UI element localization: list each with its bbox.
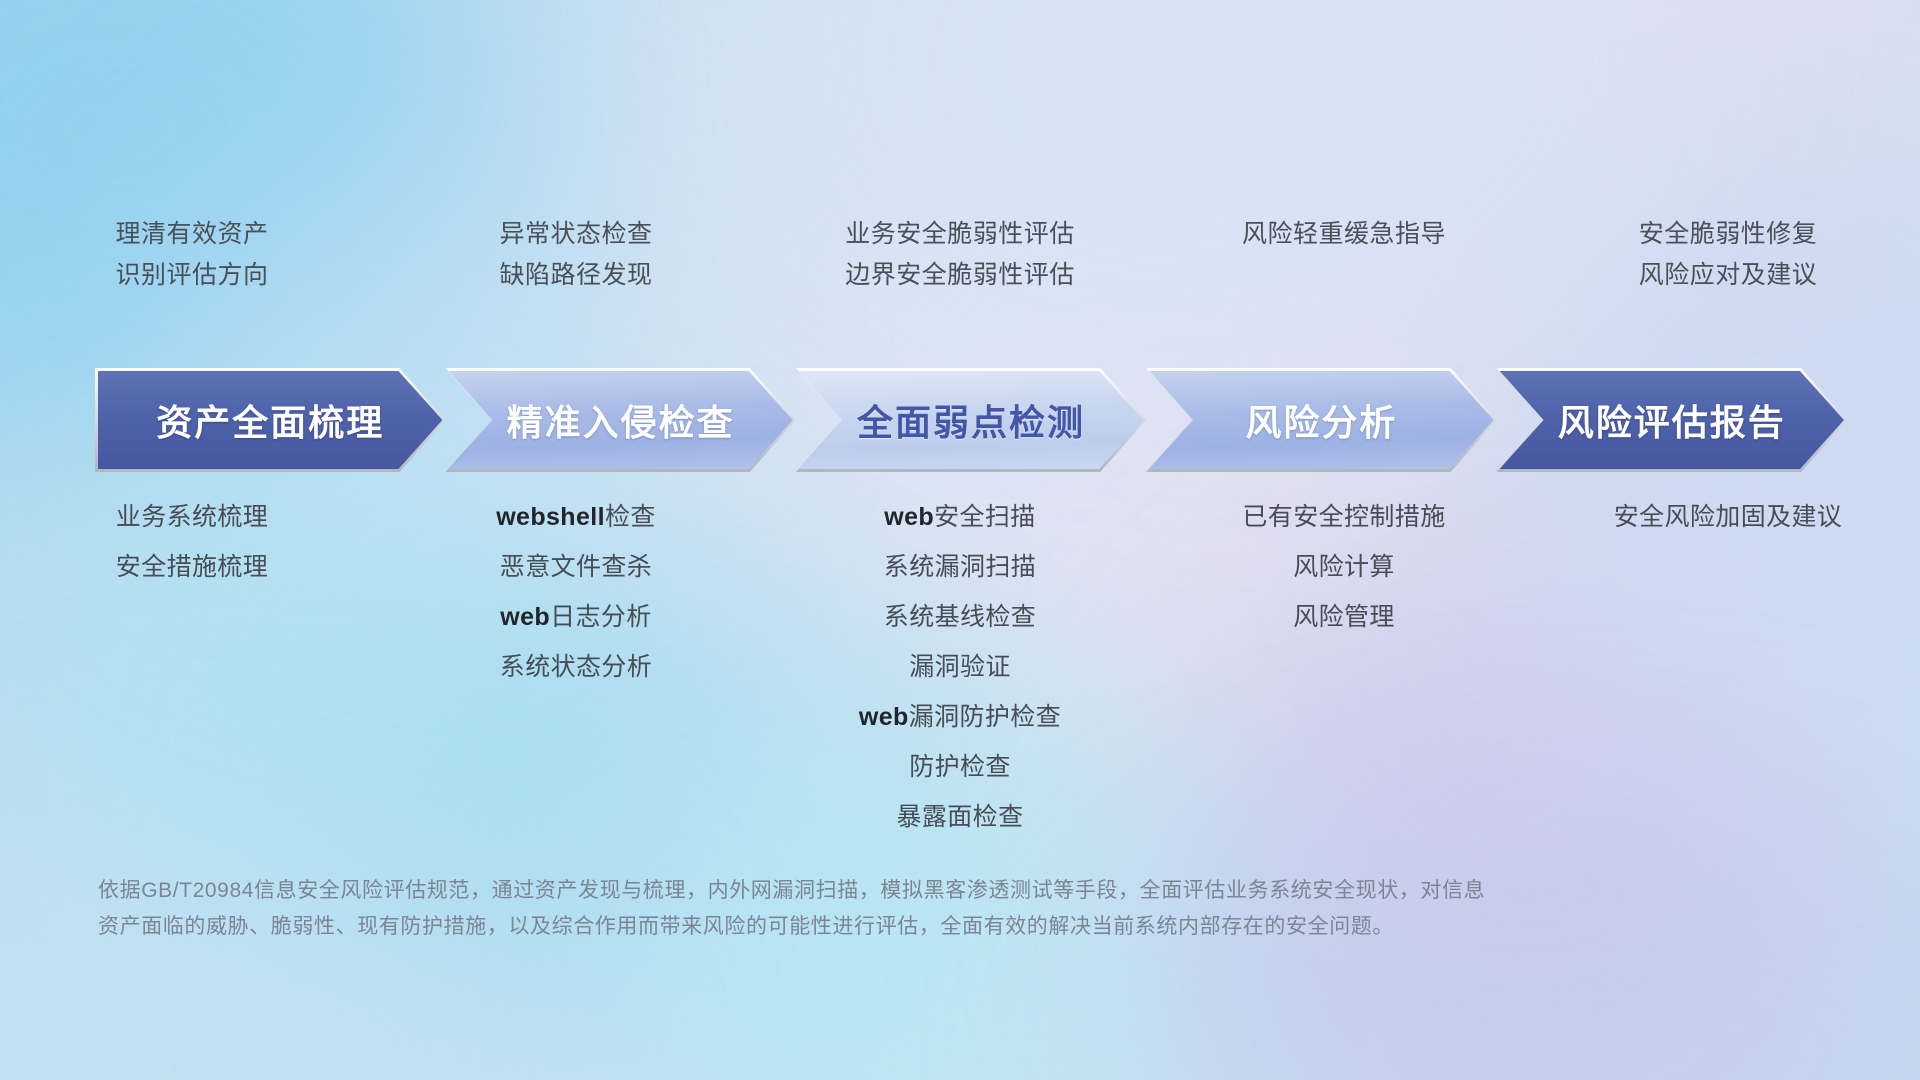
detail-item-text: 系统基线检查	[884, 603, 1036, 631]
process-stage-label: 风险分析	[1245, 394, 1397, 446]
detail-item-text: 防护检查	[909, 753, 1011, 781]
process-stage-asset-inventory[interactable]: 资产全面梳理	[95, 368, 445, 472]
process-stage-intrusion-check[interactable]: 精准入侵检查	[445, 368, 795, 472]
detail-item-text: 检查	[605, 503, 656, 531]
top-description-column: 安全脆弱性修复 风险应对及建议	[1536, 222, 1920, 332]
detail-item: 系统基线检查	[884, 605, 1036, 630]
top-description-line: 理清有效资产	[115, 222, 268, 247]
infographic-stage: 理清有效资产 识别评估方向 异常状态检查 缺陷路径发现 业务安全脆弱性评估 边界…	[0, 0, 1920, 1080]
detail-item: 风险计算	[1293, 555, 1395, 580]
top-description-line: 风险应对及建议	[1639, 263, 1818, 288]
top-description-line: 识别评估方向	[115, 263, 268, 288]
detail-column-risk-analysis: 已有安全控制措施 风险计算 风险管理	[1152, 505, 1536, 630]
detail-column-intrusion-check: webshell检查 恶意文件查杀 web日志分析 系统状态分析	[384, 505, 768, 680]
process-banner: 资产全面梳理 精准入侵检查 全面弱点检测 风险分析 风险评估报告	[95, 368, 1847, 472]
process-stage-risk-analysis[interactable]: 风险分析	[1146, 368, 1496, 472]
top-description-line: 异常状态检查	[499, 222, 652, 247]
detail-item-text: 风险管理	[1293, 603, 1395, 631]
detail-item: web漏洞防护检查	[859, 705, 1061, 730]
detail-item: 系统漏洞扫描	[884, 555, 1036, 580]
process-stage-weakness-detection[interactable]: 全面弱点检测	[796, 368, 1146, 472]
detail-item: 安全措施梳理	[116, 555, 268, 580]
process-stage-label: 精准入侵检查	[507, 394, 735, 446]
detail-item-text: 漏洞防护检查	[909, 703, 1061, 731]
top-description-line: 风险轻重缓急指导	[1242, 222, 1446, 247]
top-description-column: 业务安全脆弱性评估 边界安全脆弱性评估	[768, 222, 1152, 332]
detail-row: 业务系统梳理 安全措施梳理 webshell检查 恶意文件查杀 web日志分析 …	[0, 505, 1920, 830]
detail-item-text: 日志分析	[550, 603, 652, 631]
detail-item: 系统状态分析	[500, 655, 652, 680]
detail-item-text: 系统漏洞扫描	[884, 553, 1036, 581]
detail-item-text: 业务系统梳理	[116, 503, 268, 531]
top-description-line: 业务安全脆弱性评估	[845, 222, 1075, 247]
detail-item-text: 漏洞验证	[909, 653, 1011, 681]
top-description-row: 理清有效资产 识别评估方向 异常状态检查 缺陷路径发现 业务安全脆弱性评估 边界…	[0, 222, 1920, 332]
detail-item-prefix: web	[884, 503, 934, 531]
top-description-line: 边界安全脆弱性评估	[845, 263, 1075, 288]
detail-item: 已有安全控制措施	[1242, 505, 1445, 530]
detail-item-text: 暴露面检查	[896, 803, 1023, 831]
process-stage-label: 风险评估报告	[1558, 394, 1786, 446]
detail-item: web安全扫描	[884, 505, 1035, 530]
detail-item-text: 已有安全控制措施	[1242, 503, 1445, 531]
process-stage-label: 资产全面梳理	[156, 394, 384, 446]
top-description-column: 风险轻重缓急指导	[1152, 222, 1536, 332]
footer-description: 依据GB/T20984信息安全风险评估规范，通过资产发现与梳理，内外网漏洞扫描，…	[98, 873, 1618, 945]
detail-column-risk-report: 安全风险加固及建议	[1536, 505, 1920, 530]
detail-item-text: 安全措施梳理	[116, 553, 268, 581]
detail-item-prefix: web	[859, 703, 909, 731]
detail-item-text: 安全风险加固及建议	[1614, 503, 1843, 531]
detail-column-weakness-detection: web安全扫描 系统漏洞扫描 系统基线检查 漏洞验证 web漏洞防护检查 防护检…	[768, 505, 1152, 830]
detail-item: webshell检查	[496, 505, 656, 530]
footer-line: 资产面临的威胁、脆弱性、现有防护措施，以及综合作用而带来风险的可能性进行评估，全…	[98, 909, 1618, 945]
detail-item: 业务系统梳理	[116, 505, 268, 530]
top-description-column: 异常状态检查 缺陷路径发现	[384, 222, 768, 332]
detail-item: web日志分析	[500, 605, 651, 630]
detail-item-text: 安全扫描	[934, 503, 1036, 531]
detail-item: 风险管理	[1293, 605, 1395, 630]
detail-column-asset-inventory: 业务系统梳理 安全措施梳理	[0, 505, 384, 580]
detail-item: 暴露面检查	[896, 805, 1023, 830]
detail-item-text: 恶意文件查杀	[500, 553, 652, 581]
detail-item-prefix: webshell	[496, 503, 605, 531]
process-stage-risk-report[interactable]: 风险评估报告	[1497, 368, 1847, 472]
top-description-column: 理清有效资产 识别评估方向	[0, 222, 384, 332]
detail-item: 恶意文件查杀	[500, 555, 652, 580]
footer-line: 依据GB/T20984信息安全风险评估规范，通过资产发现与梳理，内外网漏洞扫描，…	[98, 873, 1618, 909]
process-stage-label: 全面弱点检测	[857, 394, 1085, 446]
detail-item: 漏洞验证	[909, 655, 1011, 680]
detail-item-text: 系统状态分析	[500, 653, 652, 681]
top-description-line: 缺陷路径发现	[499, 263, 652, 288]
top-description-line: 安全脆弱性修复	[1639, 222, 1818, 247]
detail-item: 防护检查	[909, 755, 1011, 780]
detail-item-text: 风险计算	[1293, 553, 1395, 581]
detail-item-prefix: web	[500, 603, 550, 631]
detail-item: 安全风险加固及建议	[1614, 505, 1843, 530]
